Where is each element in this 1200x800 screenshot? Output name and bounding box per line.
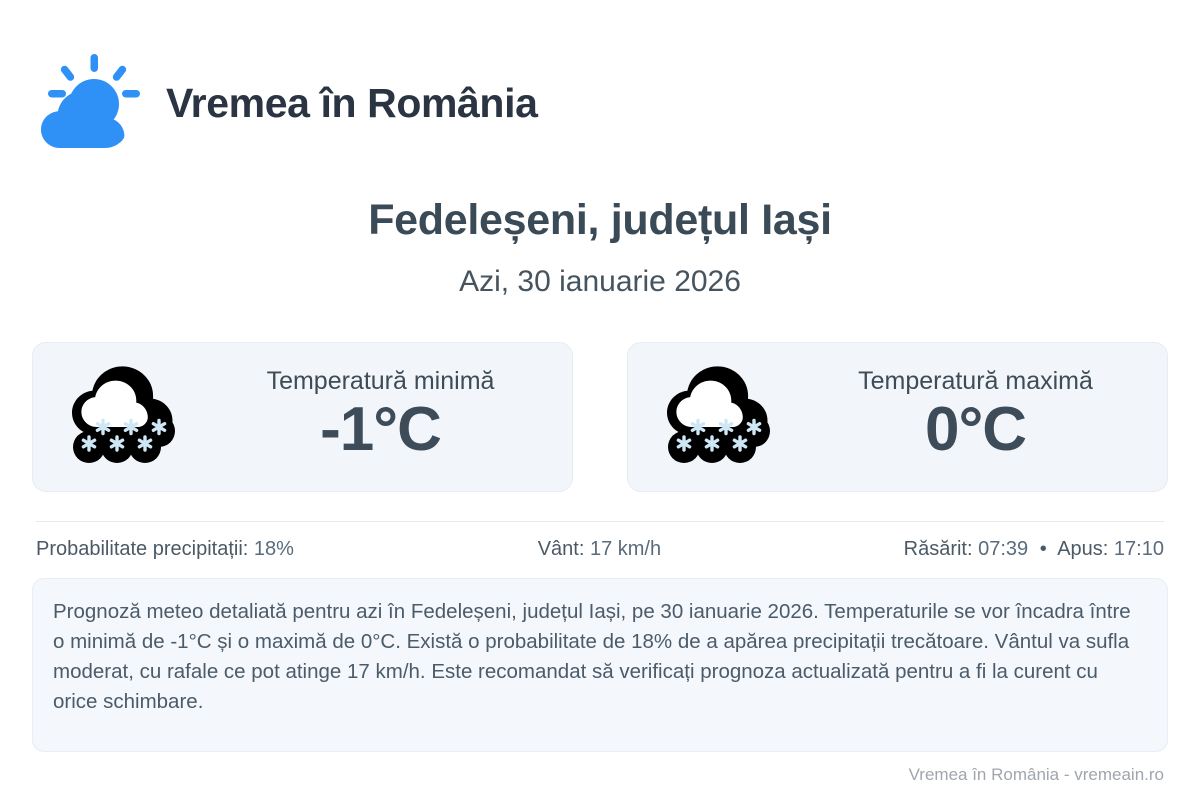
min-temperature-card: Temperatură minimă -1°C (32, 342, 573, 492)
min-temperature-value: -1°C (320, 397, 441, 464)
temperature-cards: Temperatură minimă -1°C (32, 342, 1168, 492)
brand-name: Vremea în România (166, 81, 537, 127)
wind-label: Vânt: (538, 538, 585, 560)
max-temperature-value: 0°C (925, 397, 1026, 464)
min-temperature-label: Temperatură minimă (267, 368, 495, 396)
max-temperature-card: Temperatură maximă 0°C (627, 342, 1168, 492)
wind-stat: Vânt: 17 km/h (412, 538, 788, 561)
sunrise-value: 07:39 (978, 538, 1028, 560)
sun-behind-cloud-icon (36, 52, 144, 156)
precipitation-value: 18% (254, 538, 294, 560)
max-temperature-body: Temperatură maximă 0°C (798, 368, 1153, 466)
stats-divider (36, 521, 1164, 522)
site-footer: Vremea în România - vremeain.ro (909, 765, 1164, 785)
min-temperature-body: Temperatură minimă -1°C (203, 368, 558, 466)
snow-cloud-icon (654, 359, 784, 476)
page-subtitle: Azi, 30 ianuarie 2026 (0, 265, 1200, 299)
weather-page: Vremea în România Fedeleșeni, județul Ia… (0, 0, 1200, 800)
page-title: Fedeleșeni, județul Iași (0, 196, 1200, 245)
snow-cloud-icon (59, 359, 189, 476)
forecast-description-box: Prognoză meteo detaliată pentru azi în F… (32, 578, 1168, 752)
forecast-description-text: Prognoză meteo detaliată pentru azi în F… (53, 597, 1141, 718)
sun-times-separator: • (1034, 538, 1053, 560)
precipitation-label: Probabilitate precipitații: (36, 538, 248, 560)
precipitation-stat: Probabilitate precipitații: 18% (36, 538, 412, 561)
max-temperature-label: Temperatură maximă (858, 368, 1093, 396)
site-header: Vremea în România (36, 52, 537, 156)
sunrise-label: Răsărit: (904, 538, 973, 560)
sun-times-stat: Răsărit: 07:39 • Apus: 17:10 (787, 538, 1164, 561)
sunset-label: Apus: (1057, 538, 1108, 560)
sunset-value: 17:10 (1114, 538, 1164, 560)
wind-value: 17 km/h (590, 538, 661, 560)
weather-stats-row: Probabilitate precipitații: 18% Vânt: 17… (36, 538, 1164, 561)
